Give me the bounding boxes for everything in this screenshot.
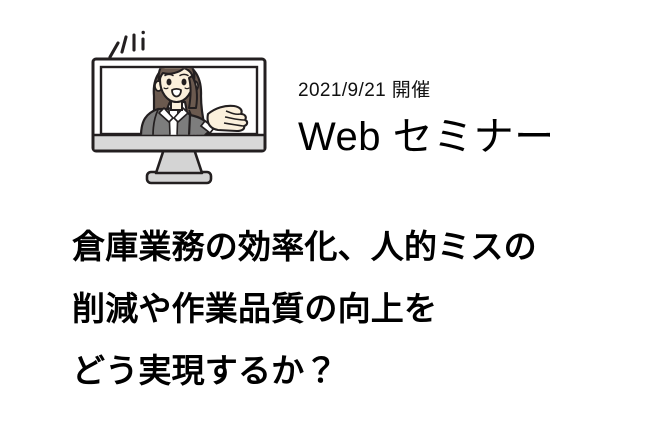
page-title: Web セミナー (298, 112, 628, 162)
monitor-bottom-bezel (95, 135, 264, 150)
body-copy-line-3: どう実現するか？ (72, 340, 652, 402)
presenter-cheek-left (164, 88, 168, 89)
banner-top-section: 2021/9/21 開催 Web セミナー (0, 0, 670, 205)
woman-presenter-in-monitor-illustration (84, 18, 274, 198)
presenter-eye-right (182, 79, 187, 86)
monitor-stand-neck (156, 149, 202, 173)
presenter-blouse (169, 108, 178, 136)
emphasis-lines (110, 31, 145, 57)
webinar-banner: 2021/9/21 開催 Web セミナー 倉庫業務の効率化、人的ミスの 削減や… (0, 0, 670, 440)
body-copy: 倉庫業務の効率化、人的ミスの 削減や作業品質の向上を どう実現するか？ (72, 216, 652, 402)
body-copy-line-2: 削減や作業品質の向上を (72, 278, 652, 340)
presenter-cheek-right (185, 88, 189, 89)
body-copy-line-1: 倉庫業務の効率化、人的ミスの (72, 216, 652, 278)
heading-block: 2021/9/21 開催 Web セミナー (298, 78, 628, 162)
presenter-mouth (172, 89, 181, 97)
presenter-open-hand (208, 106, 248, 131)
event-date: 2021/9/21 開催 (298, 78, 628, 104)
presenter-eye-left (167, 79, 172, 86)
illustration-svg (84, 18, 274, 198)
